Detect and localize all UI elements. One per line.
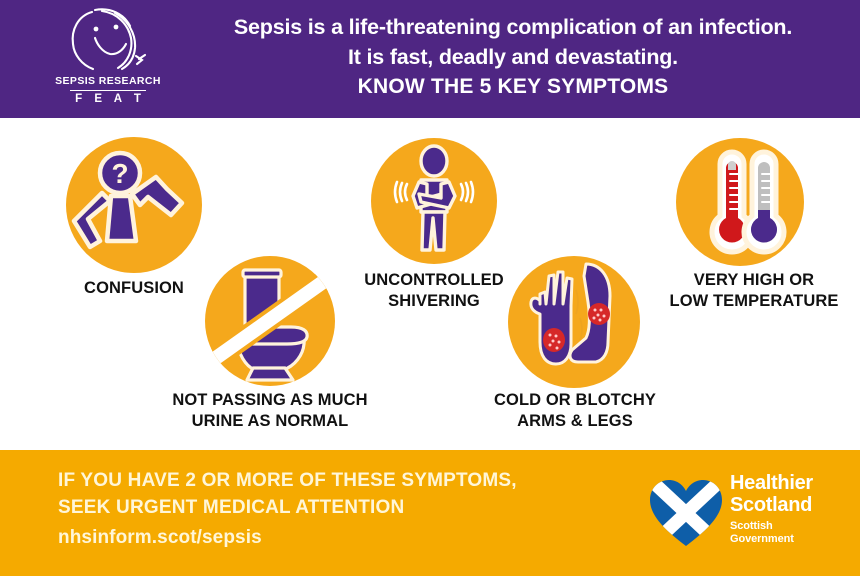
logo-acronym: F E A T bbox=[48, 93, 168, 105]
sepsis-infographic-poster: SEPSIS RESEARCH F E A T Sepsis is a life… bbox=[0, 0, 860, 576]
sepsis-research-logo: SEPSIS RESEARCH F E A T bbox=[48, 6, 168, 112]
shivering-person-icon bbox=[371, 138, 497, 264]
headline-line-2: It is fast, deadly and devastating. bbox=[168, 42, 858, 72]
no-toilet-urine-icon bbox=[205, 256, 335, 386]
header-bar: SEPSIS RESEARCH F E A T Sepsis is a life… bbox=[0, 0, 860, 118]
footer-url-link[interactable]: nhsinform.scot/sepsis bbox=[58, 527, 618, 549]
nhs-sub-scottish: Scottish bbox=[730, 520, 850, 533]
symptom-label-confusion: CONFUSION bbox=[36, 278, 232, 299]
symptom-label-blotchy: COLD OR BLOTCHY ARMS & LEGS bbox=[462, 390, 688, 432]
footer-bar: IF YOU HAVE 2 OR MORE OF THESE SYMPTOMS,… bbox=[0, 450, 860, 576]
healthier-scotland-logo: Healthier Scotland Scottish Government bbox=[648, 472, 848, 554]
symptom-label-temperature: VERY HIGH OR LOW TEMPERATURE bbox=[648, 270, 860, 312]
saltire-heart-icon bbox=[648, 478, 724, 548]
symptom-label-urine: NOT PASSING AS MUCH URINE AS NORMAL bbox=[145, 390, 395, 432]
nhs-word-scotland: Scotland bbox=[730, 494, 850, 516]
footer-line-1: IF YOU HAVE 2 OR MORE OF THESE SYMPTOMS, bbox=[58, 467, 618, 494]
confused-person-question-mark-icon: ? bbox=[66, 137, 202, 273]
svg-text:?: ? bbox=[111, 158, 128, 189]
nhs-word-healthier: Healthier bbox=[730, 472, 850, 494]
footer-call-to-action: IF YOU HAVE 2 OR MORE OF THESE SYMPTOMS,… bbox=[58, 467, 618, 549]
logo-divider bbox=[70, 90, 146, 91]
healthier-scotland-wordmark: Healthier Scotland Scottish Government bbox=[730, 472, 850, 546]
two-thermometers-icon bbox=[676, 138, 804, 266]
smiling-face-outline-icon bbox=[62, 8, 154, 74]
headline-line-3: KNOW THE 5 KEY SYMPTOMS bbox=[168, 72, 858, 102]
symptom-label-shivering: UNCONTROLLED SHIVERING bbox=[336, 270, 532, 312]
logo-org-name: SEPSIS RESEARCH bbox=[48, 75, 168, 87]
symptoms-area: ? CONFUSION bbox=[0, 118, 860, 450]
headline: Sepsis is a life-threatening complicatio… bbox=[168, 12, 858, 102]
footer-line-2: SEEK URGENT MEDICAL ATTENTION bbox=[58, 494, 618, 521]
nhs-sub-government: Government bbox=[730, 533, 850, 546]
headline-line-1: Sepsis is a life-threatening complicatio… bbox=[168, 12, 858, 42]
blotchy-arm-leg-icon bbox=[508, 256, 640, 388]
